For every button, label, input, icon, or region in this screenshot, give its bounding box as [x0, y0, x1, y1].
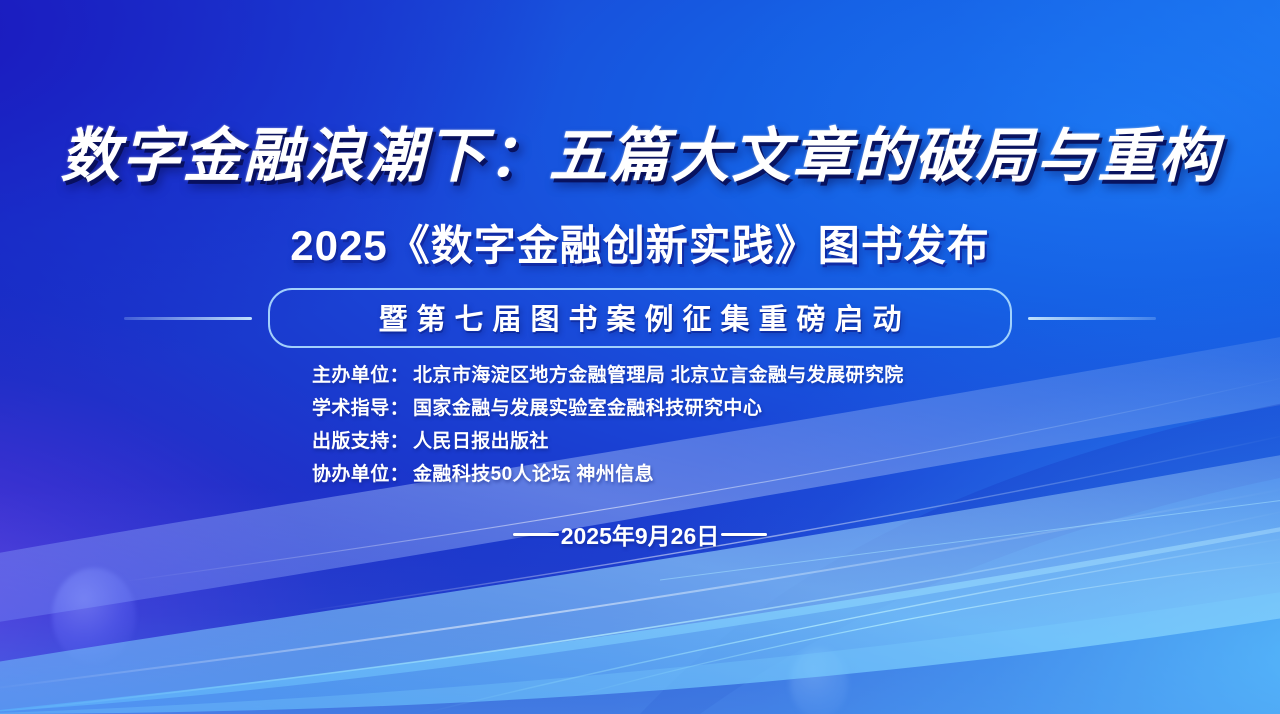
- info-label-publishing-support: 出版支持：: [312, 431, 409, 452]
- info-line-academic-guidance: 学术指导：国家金融与发展实验室金融科技研究中心: [312, 393, 904, 420]
- date-dash-left: [513, 533, 559, 536]
- info-line-co-organizer: 协办单位：金融科技50人论坛 神州信息: [312, 459, 904, 486]
- divider-line-right: [1028, 317, 1156, 320]
- tagline-row: 暨第七届图书案例征集重磅启动: [0, 288, 1280, 348]
- page-subtitle: 2025《数字金融创新实践》图书发布: [0, 212, 1280, 273]
- date-dash-right: [721, 533, 767, 536]
- event-date: 2025年9月26日: [561, 517, 720, 551]
- tagline-box: 暨第七届图书案例征集重磅启动: [268, 288, 1012, 348]
- info-label-co-organizer: 协办单位：: [312, 464, 409, 485]
- tagline-text: 暨第七届图书案例征集重磅启动: [294, 296, 986, 338]
- info-value-host: 北京市海淀区地方金融管理局 北京立言金融与发展研究院: [413, 365, 904, 386]
- info-value-publishing-support: 人民日报出版社: [413, 431, 549, 452]
- info-line-host: 主办单位：北京市海淀区地方金融管理局 北京立言金融与发展研究院: [312, 360, 904, 387]
- info-line-publishing-support: 出版支持：人民日报出版社: [312, 426, 904, 453]
- info-value-co-organizer: 金融科技50人论坛 神州信息: [413, 464, 654, 485]
- info-label-host: 主办单位：: [312, 365, 409, 386]
- info-value-academic-guidance: 国家金融与发展实验室金融科技研究中心: [413, 398, 762, 419]
- poster-banner: 数字金融浪潮下：五篇大文章的破局与重构 2025《数字金融创新实践》图书发布 暨…: [0, 0, 1280, 714]
- page-title: 数字金融浪潮下：五篇大文章的破局与重构: [0, 108, 1280, 193]
- divider-line-left: [124, 317, 252, 320]
- event-date-row: 2025年9月26日: [0, 517, 1280, 551]
- organizer-info-block: 主办单位：北京市海淀区地方金融管理局 北京立言金融与发展研究院 学术指导：国家金…: [312, 360, 904, 486]
- info-label-academic-guidance: 学术指导：: [312, 398, 409, 419]
